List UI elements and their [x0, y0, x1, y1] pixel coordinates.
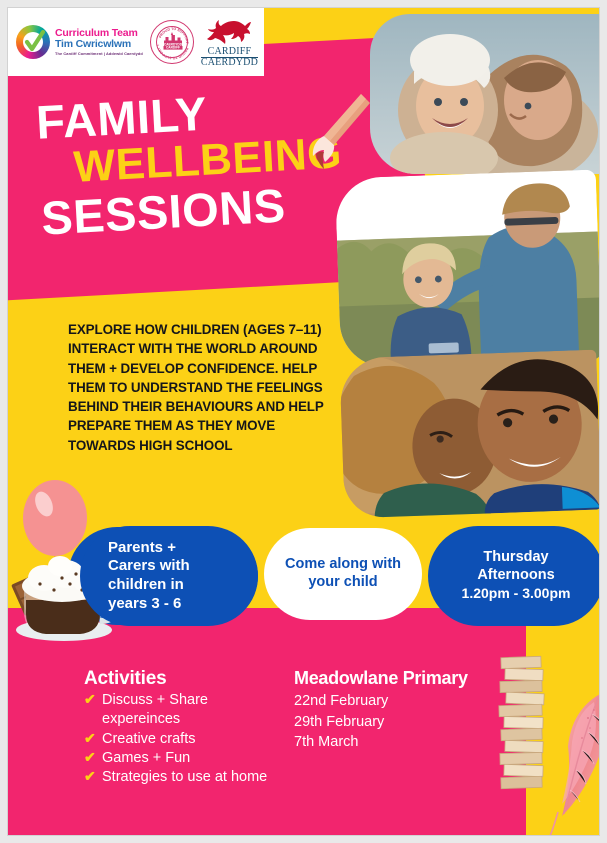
activity-label: Games + Fun [102, 749, 190, 768]
paintbrush-icon [304, 92, 372, 172]
pill-audience-text: Parents + Carers with children in years … [108, 539, 190, 613]
pill-invite-text: Come along with your child [285, 556, 401, 592]
session-date: 22nd February [294, 691, 514, 712]
logo-header-band: Curriculum Team Tim Cwricwlwm The Cardif… [8, 8, 264, 76]
poster-body-text: EXPLORE HOW CHILDREN (AGES 7–11) INTERAC… [68, 320, 346, 455]
activities-section: Activities ✔ Discuss + Share expereinces… [84, 668, 284, 787]
venue-section: Meadowlane Primary 22nd February 29th Fe… [294, 668, 514, 753]
curriculum-team-logo: Curriculum Team Tim Cwricwlwm The Cardif… [16, 25, 143, 59]
check-icon: ✔ [84, 730, 96, 745]
pill-schedule-text: Thursday Afternoons 1.20pm - 3.00pm [462, 549, 571, 602]
curriculum-logo-text: Curriculum Team Tim Cwricwlwm The Cardif… [55, 28, 143, 56]
pill-audience[interactable]: Parents + Carers with children in years … [80, 526, 258, 626]
pill-schedule-line-2: Afternoons [462, 567, 571, 585]
photo-mother-and-daughter [370, 14, 599, 174]
session-date: 29th February [294, 712, 514, 733]
check-icon: ✔ [84, 691, 96, 706]
pill-invite[interactable]: Come along with your child [264, 528, 422, 620]
activity-label: Strategies to use at home [102, 768, 267, 787]
cardiff-council-crest: CARDIFF CAERDYDD [201, 16, 258, 68]
photo-father-and-son [335, 170, 599, 369]
curriculum-line-2: Tim Cwricwlwm [55, 39, 143, 50]
check-icon: ✔ [84, 768, 96, 783]
pill-audience-line-3: children in [108, 576, 190, 595]
seal-artwork: PROUD TO SUPPORT PROUD TO SUPPORT THE CI… [151, 21, 195, 65]
school-name: Meadowlane Primary [294, 668, 514, 689]
activity-item: ✔ Creative crafts [84, 730, 284, 749]
activity-item: ✔ Strategies to use at home [84, 768, 284, 787]
crest-line-caerdydd: CAERDYDD [201, 57, 258, 68]
jenga-tower-icon [495, 653, 553, 793]
green-tick-icon [24, 30, 46, 54]
activity-label: Discuss + Share expereinces [102, 691, 284, 730]
activities-title: Activities [84, 668, 284, 690]
cardiff-proud-to-support-seal-icon: PROUD TO SUPPORT PROUD TO SUPPORT THE CI… [150, 20, 194, 64]
svg-text:CARDIFF: CARDIFF [166, 46, 180, 50]
pill-schedule[interactable]: Thursday Afternoons 1.20pm - 3.00pm [428, 526, 599, 626]
check-icon: ✔ [84, 749, 96, 764]
pill-audience-line-4: years 3 - 6 [108, 595, 190, 614]
activity-label: Creative crafts [102, 730, 195, 749]
photo-mother-and-teen-son [339, 350, 599, 519]
poster-page: Curriculum Team Tim Cwricwlwm The Cardif… [8, 8, 599, 835]
session-date: 7th March [294, 732, 514, 753]
pill-audience-line-1: Parents + [108, 539, 190, 558]
welsh-dragon-icon [203, 16, 255, 46]
curriculum-ring-icon [16, 25, 50, 59]
pill-schedule-line-1: Thursday [462, 549, 571, 567]
pill-schedule-line-3: 1.20pm - 3.00pm [462, 585, 571, 602]
pill-invite-line-2: your child [285, 574, 401, 592]
crest-line-cardiff: CARDIFF [201, 47, 258, 57]
poster-root: Curriculum Team Tim Cwricwlwm The Cardif… [0, 0, 607, 843]
activity-item: ✔ Discuss + Share expereinces [84, 691, 284, 730]
pill-invite-line-1: Come along with [285, 556, 401, 574]
activity-item: ✔ Games + Fun [84, 749, 284, 768]
curriculum-line-3: The Cardiff Commitment | Addewid Caerdyd… [55, 52, 143, 56]
pill-audience-line-2: Carers with [108, 557, 190, 576]
crest-text-block: CARDIFF CAERDYDD [201, 47, 258, 68]
